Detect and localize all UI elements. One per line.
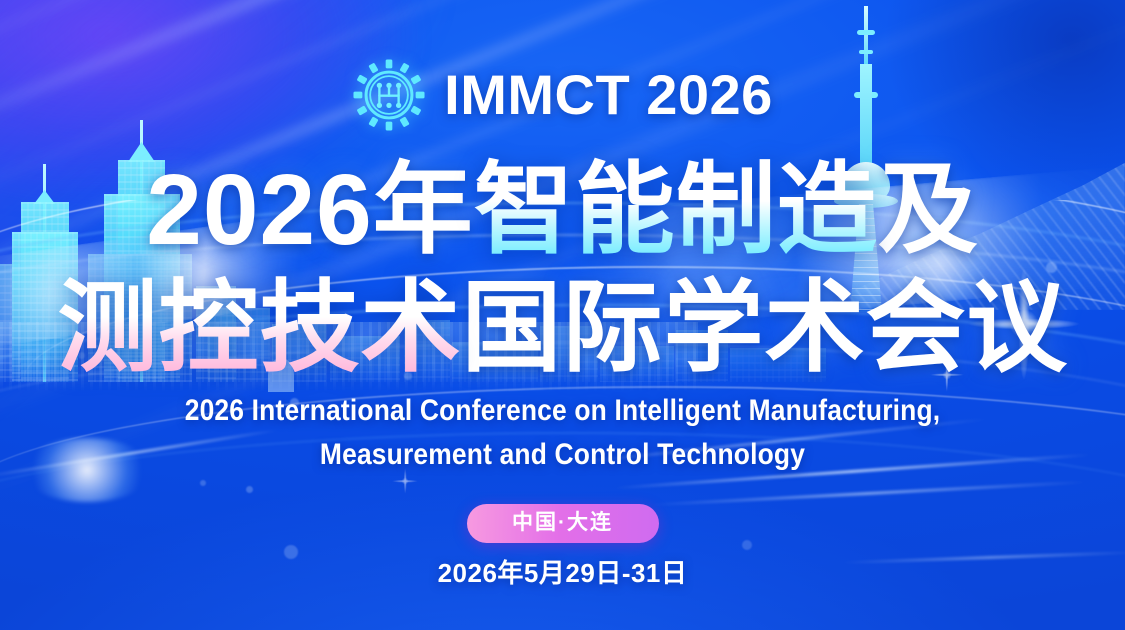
title-en-line-1: 2026 International Conference on Intelli…: [68, 394, 1058, 428]
title-cn-1-seg-3: 及: [878, 154, 979, 266]
title-cn-1-seg-2: 智能制造: [474, 154, 878, 266]
title-cn-line-2: 测控技术国际学术会议: [0, 278, 1125, 378]
conference-banner: IMMCT 2026 2026年智能制造及 测控技术国际学术会议 2026 In…: [0, 0, 1125, 630]
title-cn-2-seg-2: 国际学术会议: [462, 272, 1068, 384]
title-en-line-2: Measurement and Control Technology: [68, 438, 1058, 472]
title-cn-2-seg-1: 测控技术: [58, 272, 462, 384]
title-cn-1-seg-1: 2026年: [146, 154, 473, 266]
banner-content: IMMCT 2026 2026年智能制造及 测控技术国际学术会议 2026 In…: [0, 0, 1125, 630]
title-cn-line-1: 2026年智能制造及: [0, 160, 1125, 260]
logo-row: IMMCT 2026: [0, 58, 1125, 132]
location-badge: 中国·大连: [467, 504, 659, 543]
logo-wordmark: IMMCT 2026: [444, 67, 773, 123]
gear-circuit-icon: [352, 58, 426, 132]
conference-date: 2026年5月29日-31日: [0, 553, 1125, 590]
